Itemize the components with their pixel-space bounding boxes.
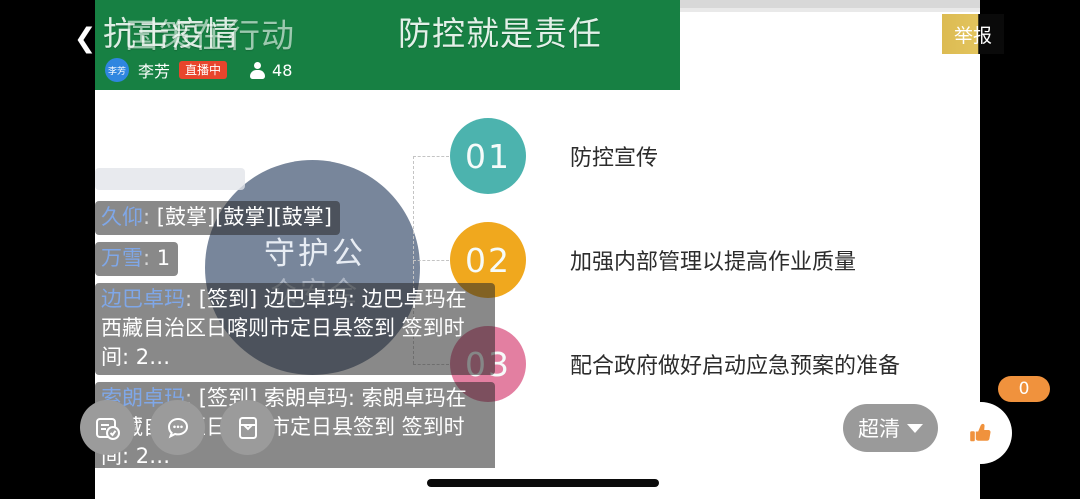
chat-message-bubble: 边巴卓玛: [签到] 边巴卓玛: 边巴卓玛在西藏自治区日喀则市定日县签到 签到时…: [95, 283, 495, 375]
live-title-overlap: 国策在行动: [125, 16, 295, 56]
like-count-badge: 0: [998, 376, 1050, 402]
live-title-group: 抗击疫情 国策在行动 防控就是责任: [103, 14, 680, 58]
host-meta-row: 李芳 李芳 直播中 48: [105, 58, 292, 82]
report-button[interactable]: 举报: [942, 14, 1004, 54]
chat-message-text: [鼓掌][鼓掌][鼓掌]: [150, 205, 332, 229]
connector-line-1: [413, 156, 449, 157]
chat-message: 久仰: [鼓掌][鼓掌][鼓掌]: [95, 201, 515, 242]
chat-message: [95, 168, 515, 201]
quality-label: 超清: [858, 413, 900, 443]
chat-message-nickname: 万雪: [101, 246, 143, 270]
chat-message-bubble: 万雪: 1: [95, 242, 178, 276]
slide-item-1-label: 防控宣传: [570, 140, 658, 172]
status-badge: 直播中: [179, 61, 227, 79]
bottom-safe-area: [95, 468, 980, 499]
thumbs-up-icon[interactable]: [950, 402, 1012, 464]
phone-screenshot: 抗击疫情 国策在行动 防控就是责任 李芳 李芳 直播中 48 ❮ 举报 守护公 …: [0, 0, 1080, 499]
live-title-tail: 防控就是责任: [398, 14, 602, 54]
chat-message-nickname: 久仰: [101, 205, 143, 229]
slide-item-2-label: 加强内部管理以提高作业质量: [570, 244, 856, 276]
avatar[interactable]: 李芳: [105, 58, 129, 82]
chat-message-bubble: [95, 168, 245, 190]
top-strip: [680, 0, 980, 8]
chat-message-bubble: 久仰: [鼓掌][鼓掌][鼓掌]: [95, 201, 340, 235]
chat-message: 万雪: 1: [95, 242, 515, 283]
chevron-left-icon[interactable]: ❮: [72, 22, 98, 56]
chat-message-text: 1: [150, 246, 170, 270]
bottom-control-bar: 超清 0: [95, 400, 980, 468]
chat-bubble-icon[interactable]: [150, 400, 205, 455]
home-indicator-bar[interactable]: [427, 479, 659, 487]
quality-selector[interactable]: 超清: [843, 404, 938, 452]
top-strip-secondary: [680, 8, 980, 12]
chevron-down-icon: [907, 424, 923, 433]
slide-item-3: 03 配合政府做好启动应急预案的准备: [450, 326, 900, 402]
slide-item-3-label: 配合政府做好启动应急预案的准备: [570, 348, 900, 380]
viewer-count: 48: [272, 61, 292, 80]
live-header: 抗击疫情 国策在行动 防控就是责任 李芳 李芳 直播中 48: [95, 0, 680, 90]
host-name: 李芳: [138, 58, 170, 82]
viewer-count-group: 48: [250, 61, 292, 80]
chat-message: 边巴卓玛: [签到] 边巴卓玛: 边巴卓玛在西藏自治区日喀则市定日县签到 签到时…: [95, 283, 515, 382]
document-card-icon[interactable]: [220, 400, 275, 455]
person-icon: [250, 62, 265, 79]
chat-message-nickname: 边巴卓玛: [101, 287, 185, 311]
checkin-card-icon[interactable]: [80, 400, 135, 455]
like-button-group[interactable]: 0: [950, 396, 1022, 468]
